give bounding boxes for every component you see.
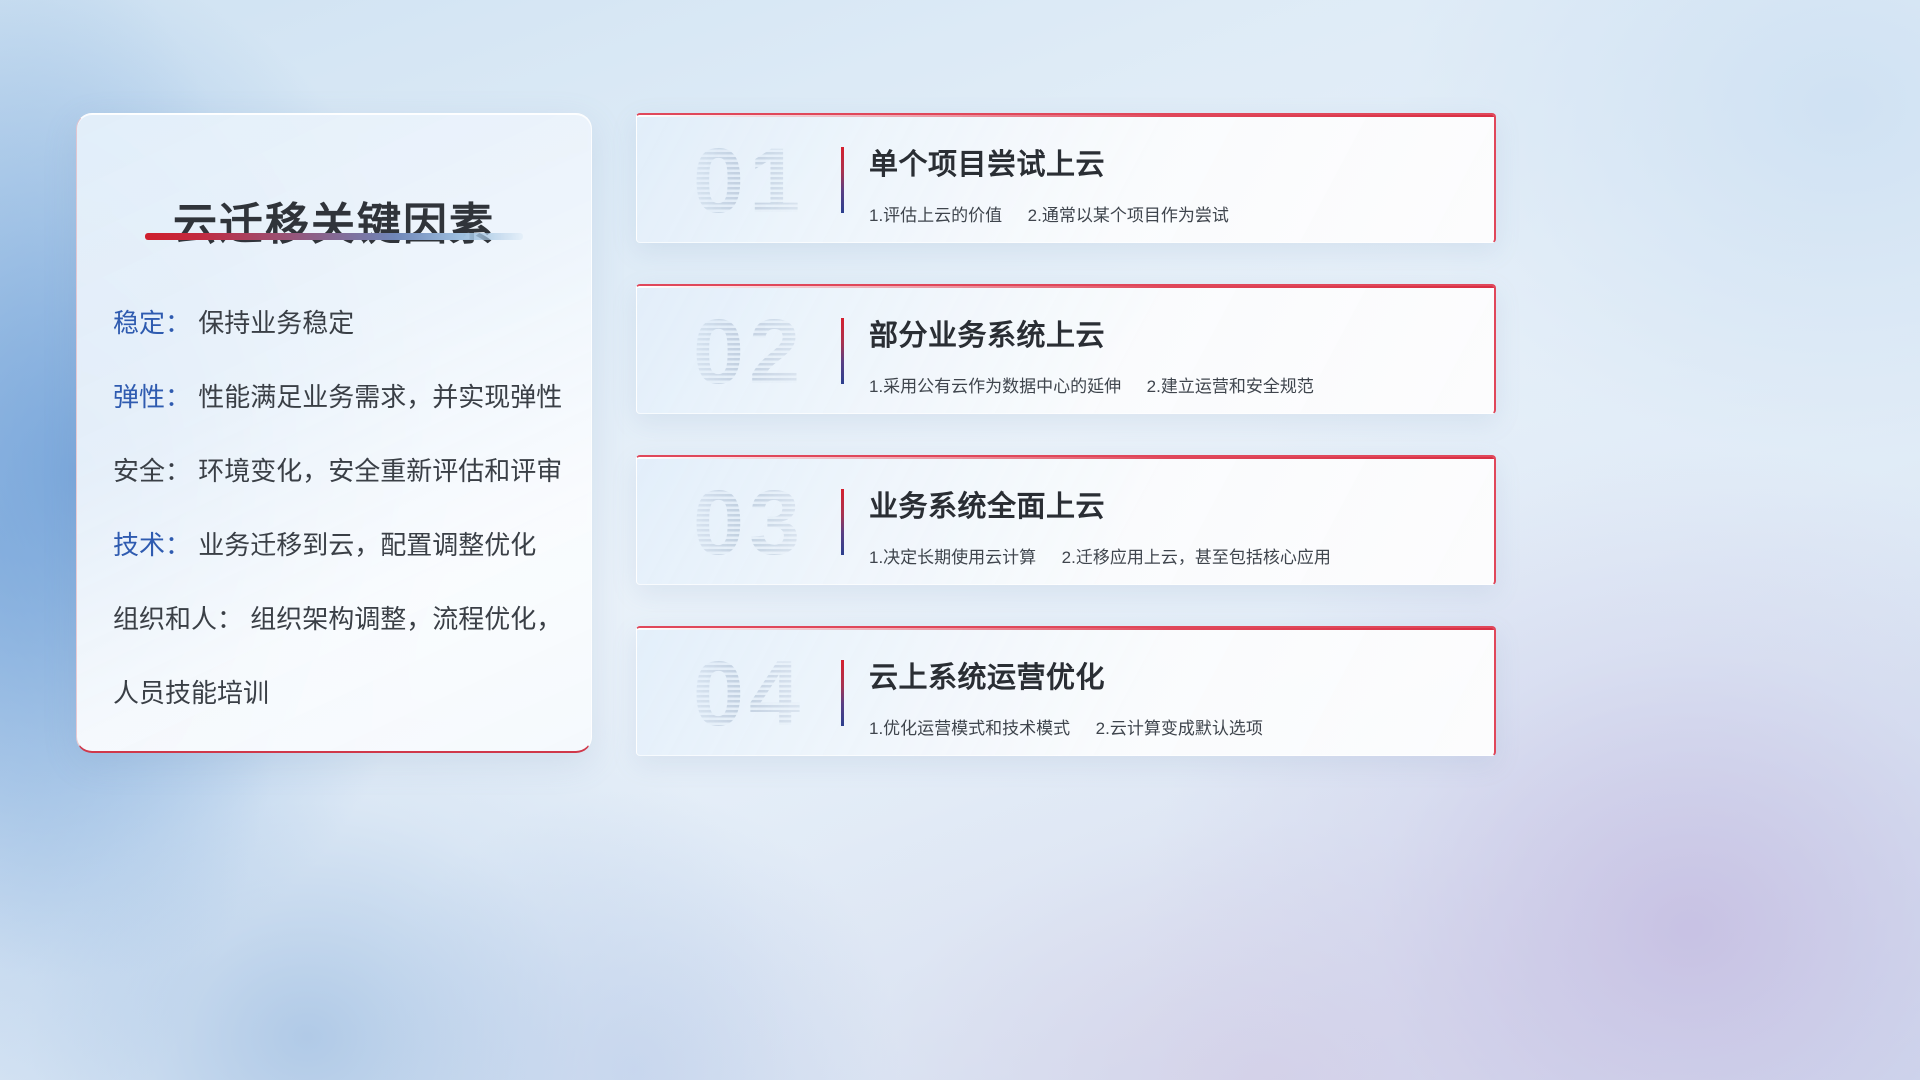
- stage-card-list: 01 单个项目尝试上云 1.评估上云的价值 2.通常以某个项目作为尝试 02 部…: [636, 113, 1496, 756]
- stage-desc-part-1: 1.优化运营模式和技术模式: [869, 719, 1070, 738]
- factor-text: 人员技能培训: [113, 678, 269, 708]
- factor-label: 技术：: [113, 530, 191, 560]
- panel-title: 云迁移关键因素: [77, 188, 591, 252]
- stage-number: 02: [659, 298, 839, 406]
- factor-label: 组织和人：: [113, 604, 243, 634]
- factor-text: 环境变化，安全重新评估和评审: [198, 456, 562, 486]
- factor-item: 组织和人： 组织架构调整，流程优化，: [113, 606, 565, 632]
- stage-desc-part-1: 1.评估上云的价值: [869, 206, 1002, 225]
- stage-description: 1.决定长期使用云计算 2.迁移应用上云，甚至包括核心应用: [869, 543, 1468, 568]
- factor-label: 弹性：: [113, 382, 191, 412]
- factor-text: 保持业务稳定: [198, 308, 354, 338]
- stage-card[interactable]: 03 业务系统全面上云 1.决定长期使用云计算 2.迁移应用上云，甚至包括核心应…: [636, 455, 1496, 585]
- stage-desc-part-1: 1.采用公有云作为数据中心的延伸: [869, 377, 1121, 396]
- stage-desc-part-2: 2.建立运营和安全规范: [1147, 377, 1314, 396]
- stage-divider-bar: [841, 147, 844, 213]
- factor-item: 稳定： 保持业务稳定: [113, 310, 565, 336]
- stage-description: 1.评估上云的价值 2.通常以某个项目作为尝试: [869, 201, 1468, 226]
- factor-text: 组织架构调整，流程优化，: [250, 604, 562, 634]
- stage-desc-part-2: 2.迁移应用上云，甚至包括核心应用: [1062, 548, 1331, 567]
- stage-card[interactable]: 01 单个项目尝试上云 1.评估上云的价值 2.通常以某个项目作为尝试: [636, 113, 1496, 243]
- stage-desc-part-2: 2.云计算变成默认选项: [1096, 719, 1263, 738]
- stage-card[interactable]: 04 云上系统运营优化 1.优化运营模式和技术模式 2.云计算变成默认选项: [636, 626, 1496, 756]
- factor-text: 性能满足业务需求，并实现弹性: [198, 382, 562, 412]
- factor-label: 稳定：: [113, 308, 191, 338]
- stage-card-body: 云上系统运营优化 1.优化运营模式和技术模式 2.云计算变成默认选项: [869, 654, 1468, 739]
- stage-title: 部分业务系统上云: [869, 312, 1468, 354]
- stage-card-body: 单个项目尝试上云 1.评估上云的价值 2.通常以某个项目作为尝试: [869, 141, 1468, 226]
- stage-desc-part-1: 1.决定长期使用云计算: [869, 548, 1036, 567]
- stage-divider-bar: [841, 318, 844, 384]
- stage-desc-part-2: 2.通常以某个项目作为尝试: [1028, 206, 1229, 225]
- stage-description: 1.采用公有云作为数据中心的延伸 2.建立运营和安全规范: [869, 372, 1468, 397]
- stage-number: 01: [659, 127, 839, 235]
- key-factors-panel: 云迁移关键因素 稳定： 保持业务稳定 弹性： 性能满足业务需求，并实现弹性 安全…: [76, 113, 592, 753]
- factor-item: 技术： 业务迁移到云，配置调整优化: [113, 532, 565, 558]
- stage-card-body: 业务系统全面上云 1.决定长期使用云计算 2.迁移应用上云，甚至包括核心应用: [869, 483, 1468, 568]
- factor-item: 弹性： 性能满足业务需求，并实现弹性: [113, 384, 565, 410]
- factor-label: 安全：: [113, 456, 191, 486]
- factor-list: 稳定： 保持业务稳定 弹性： 性能满足业务需求，并实现弹性 安全： 环境变化，安…: [113, 310, 565, 706]
- factor-text: 业务迁移到云，配置调整优化: [198, 530, 536, 560]
- factor-item: 安全： 环境变化，安全重新评估和评审: [113, 458, 565, 484]
- stage-title: 单个项目尝试上云: [869, 141, 1468, 183]
- stage-card[interactable]: 02 部分业务系统上云 1.采用公有云作为数据中心的延伸 2.建立运营和安全规范: [636, 284, 1496, 414]
- title-underline-rule: [145, 233, 523, 240]
- stage-card-body: 部分业务系统上云 1.采用公有云作为数据中心的延伸 2.建立运营和安全规范: [869, 312, 1468, 397]
- stage-title: 业务系统全面上云: [869, 483, 1468, 525]
- stage-number: 03: [659, 469, 839, 577]
- stage-number: 04: [659, 640, 839, 748]
- stage-description: 1.优化运营模式和技术模式 2.云计算变成默认选项: [869, 714, 1468, 739]
- stage-divider-bar: [841, 660, 844, 726]
- stage-title: 云上系统运营优化: [869, 654, 1468, 696]
- factor-item-continuation: 人员技能培训: [113, 680, 565, 706]
- stage-divider-bar: [841, 489, 844, 555]
